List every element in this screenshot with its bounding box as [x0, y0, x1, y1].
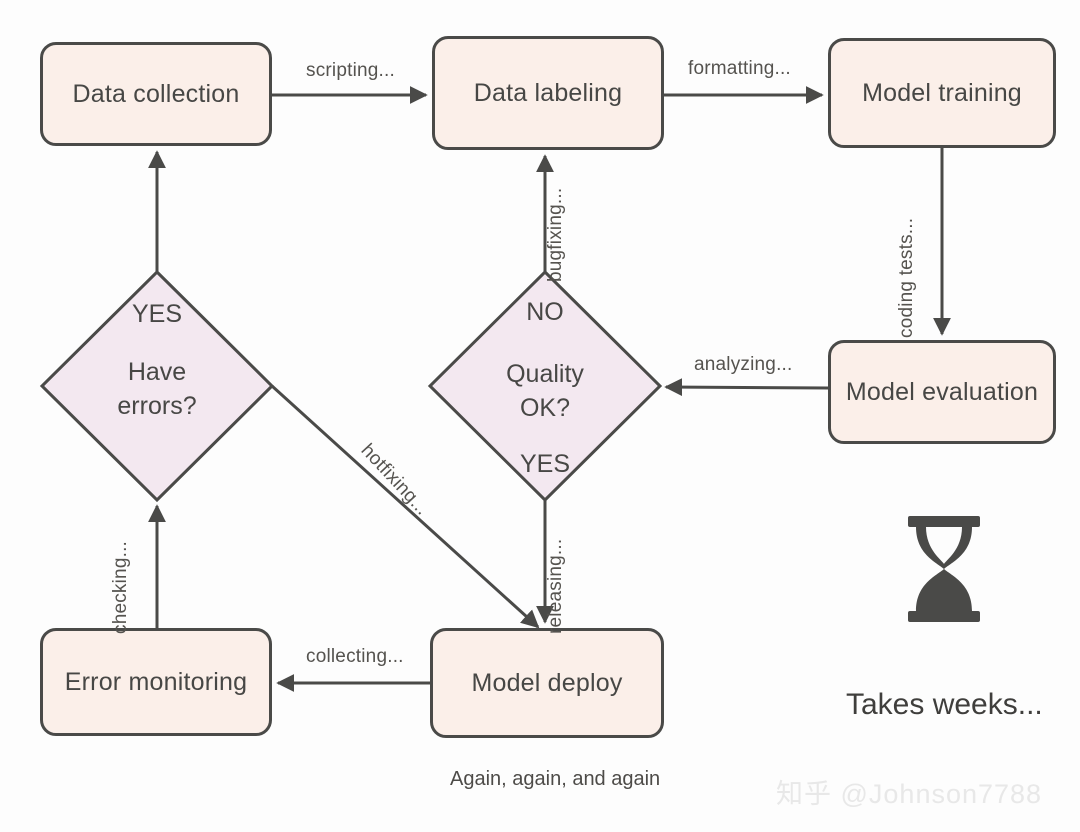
edge-label-coding-tests: coding tests... [896, 218, 918, 338]
duration-caption: Takes weeks... [846, 688, 1043, 722]
edge-label-releasing: releasing... [545, 539, 567, 634]
node-label: Model training [862, 77, 1022, 109]
decision-have-errors-labels: YES Have errors? [42, 272, 272, 500]
loop-caption: Again, again, and again [450, 768, 660, 791]
node-model-evaluation[interactable]: Model evaluation [828, 340, 1056, 444]
node-model-training[interactable]: Model training [828, 38, 1056, 148]
node-label: Error monitoring [65, 666, 247, 698]
edge-analyzing [666, 387, 828, 388]
edge-label-scripting: scripting... [306, 60, 395, 82]
node-model-deploy[interactable]: Model deploy [430, 628, 664, 738]
node-data-labeling[interactable]: Data labeling [432, 36, 664, 150]
decision-title-line1: Quality [430, 358, 660, 391]
node-label: Data collection [73, 78, 240, 110]
hourglass-icon [906, 516, 982, 622]
edge-label-checking: checking... [110, 541, 132, 634]
edge-label-formatting: formatting... [688, 58, 791, 80]
decision-quality-ok-labels: NO Quality OK? YES [430, 272, 660, 500]
decision-title-line1: Have [42, 356, 272, 389]
decision-yes-label: YES [430, 448, 660, 481]
node-label: Model evaluation [846, 376, 1038, 408]
edge-label-collecting: collecting... [306, 646, 404, 668]
decision-no-label: NO [430, 296, 660, 329]
node-label: Data labeling [474, 77, 623, 109]
decision-title-line2: errors? [42, 390, 272, 423]
flowchart-canvas: Data collection Data labeling Model trai… [0, 0, 1080, 832]
node-error-monitoring[interactable]: Error monitoring [40, 628, 272, 736]
edge-label-analyzing: analyzing... [694, 354, 793, 376]
edge-label-bugfixing: bugfixing... [545, 188, 567, 282]
watermark: 知乎 @Johnson7788 [776, 772, 1042, 811]
decision-yes-label: YES [42, 298, 272, 331]
node-label: Model deploy [471, 667, 622, 699]
decision-title-line2: OK? [430, 392, 660, 425]
node-data-collection[interactable]: Data collection [40, 42, 272, 146]
